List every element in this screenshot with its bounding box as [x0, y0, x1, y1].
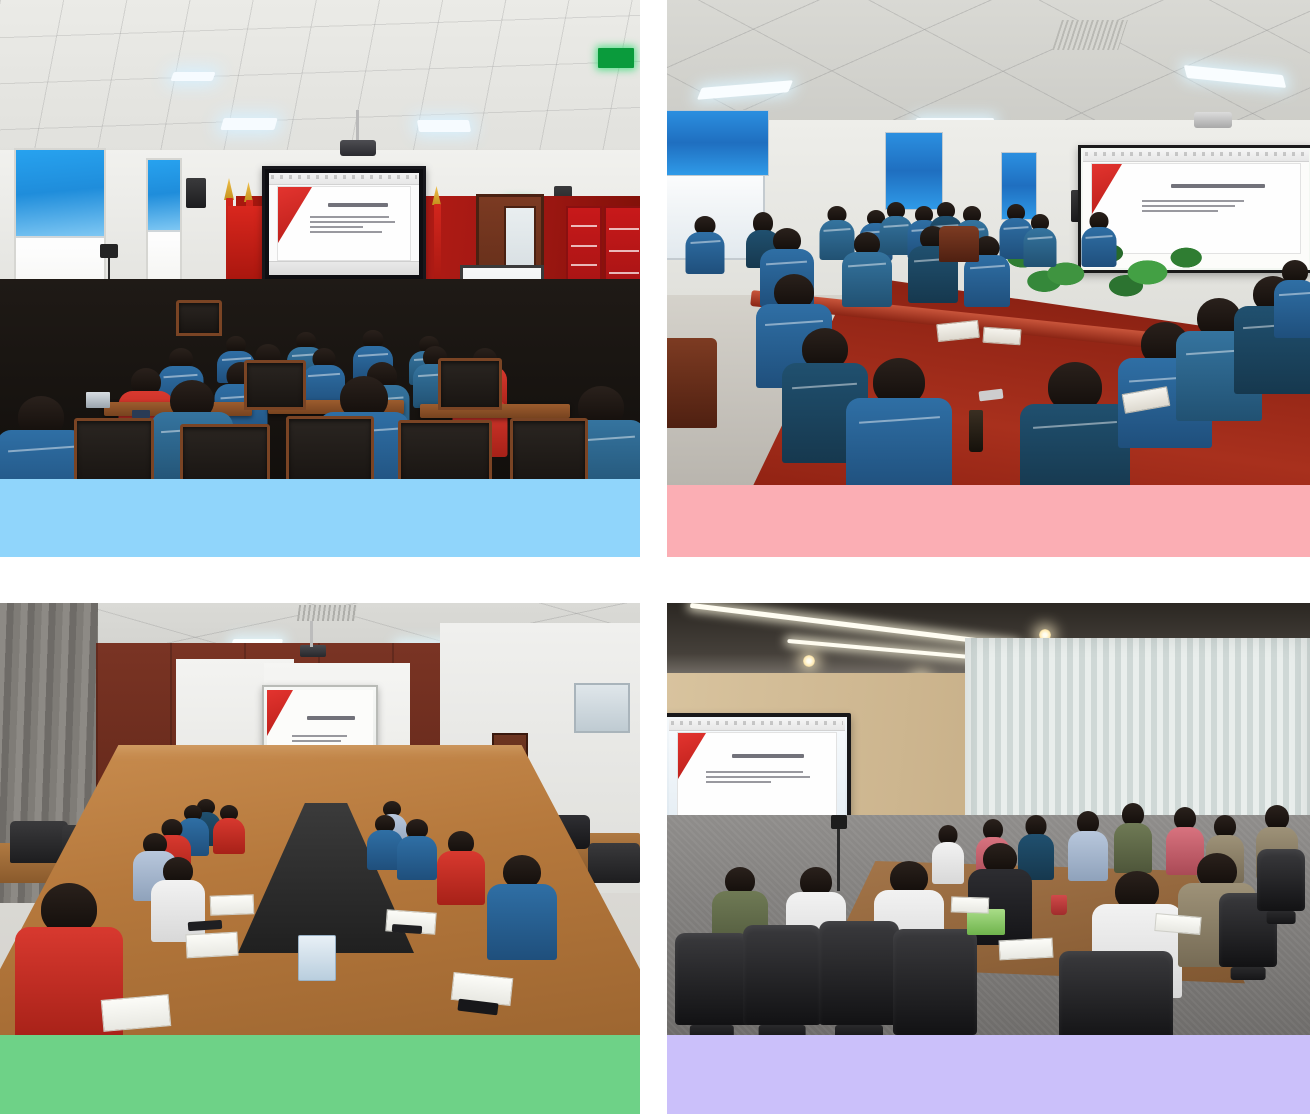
- photo-panel-top-right[interactable]: [667, 0, 1310, 557]
- ceiling-projector: [340, 140, 376, 156]
- window-blind: [667, 110, 769, 176]
- scene-modern-boardroom: [667, 603, 1310, 1035]
- slide-bullet-lines: [1142, 200, 1288, 215]
- ceiling-light: [170, 72, 215, 81]
- seat-back: [510, 418, 588, 479]
- office-chair: [10, 821, 68, 863]
- caption-bar-purple: [667, 1035, 1310, 1114]
- ceiling-air-vent: [297, 605, 357, 621]
- wall-window: [574, 683, 630, 733]
- ceiling-projector: [300, 645, 326, 657]
- window-blind: [148, 160, 180, 232]
- powerpoint-ribbon: [269, 173, 419, 185]
- drink-cup: [1051, 895, 1067, 915]
- seat-back: [286, 416, 374, 479]
- slide-canvas: [677, 732, 837, 821]
- slide-red-wedge-graphic: [267, 690, 293, 736]
- seat-back: [438, 358, 502, 410]
- photo-panel-top-left[interactable]: [0, 0, 640, 557]
- photo-panel-bottom-left[interactable]: [0, 603, 640, 1114]
- seat-back: [180, 424, 270, 479]
- attendee: [1023, 214, 1057, 266]
- video-camera: [831, 815, 847, 829]
- scene-lecture-classroom: [0, 0, 640, 479]
- attendee: [436, 831, 486, 903]
- attendee: [685, 216, 725, 272]
- projector-mount: [310, 621, 313, 647]
- slide-red-wedge-graphic: [278, 187, 312, 243]
- notepad: [210, 894, 255, 916]
- caption-bar-blue: [0, 479, 640, 557]
- slide-bullet-lines: [706, 771, 826, 786]
- notepad: [101, 994, 172, 1032]
- slide-bullet-lines: [292, 735, 366, 745]
- photo-wood-table-meeting[interactable]: [0, 603, 640, 1035]
- scene-red-table-conference-room: [667, 0, 1310, 485]
- attendee: [1067, 811, 1109, 879]
- office-chair: [1059, 951, 1173, 1035]
- party-flag: [228, 206, 264, 290]
- office-chair: [893, 929, 977, 1035]
- office-chair: [819, 921, 899, 1025]
- exit-sign: [598, 48, 634, 68]
- photo-modern-boardroom-session[interactable]: [667, 603, 1310, 1035]
- photo-classroom-training-session[interactable]: [0, 0, 640, 479]
- attendee: [1273, 260, 1310, 336]
- powerpoint-ribbon: [1083, 150, 1309, 162]
- seat-back: [398, 420, 492, 479]
- attendee: [845, 358, 953, 485]
- photo-grid: [0, 0, 1310, 1114]
- photo-panel-bottom-right[interactable]: [667, 603, 1310, 1114]
- slide-title-text: [328, 203, 387, 207]
- wooden-chair: [667, 338, 717, 428]
- office-chair: [743, 925, 821, 1025]
- attendee: [1081, 212, 1117, 266]
- ceiling-light: [417, 120, 471, 132]
- slide-title-text: [1171, 184, 1265, 188]
- projection-screen-surface: [269, 173, 419, 275]
- projection-screen: [262, 166, 426, 282]
- attendee: [1113, 803, 1153, 871]
- slide-title-text: [732, 754, 805, 758]
- scene-wood-meeting-room: [0, 603, 640, 1035]
- slide-title-text: [307, 716, 355, 720]
- ceiling-projector: [1194, 112, 1232, 128]
- window-left-far: [146, 158, 182, 290]
- ceiling-light: [220, 118, 277, 130]
- ceiling-downlight: [803, 655, 815, 667]
- water-bottle: [969, 410, 983, 452]
- office-chair: [588, 843, 640, 883]
- software-ribbon: [669, 719, 845, 731]
- attendee: [486, 855, 558, 957]
- attendee: [841, 232, 893, 306]
- notepad: [185, 932, 238, 959]
- notepad: [999, 938, 1054, 961]
- office-chair: [675, 933, 749, 1025]
- attendee: [396, 819, 438, 879]
- wall-speaker: [186, 178, 206, 208]
- window-blind: [885, 132, 943, 210]
- ceiling-air-vent: [1052, 20, 1128, 50]
- slide-bullet-lines: [310, 216, 402, 236]
- slide-canvas: [277, 186, 411, 261]
- attendee: [1019, 362, 1131, 485]
- seat-back: [176, 300, 222, 336]
- tissue-box: [298, 935, 336, 981]
- window-blind: [16, 150, 104, 238]
- caption-bar-green: [0, 1035, 640, 1114]
- laptop: [86, 392, 110, 408]
- slide-red-wedge-graphic: [1092, 164, 1122, 214]
- caption-bar-pink: [667, 485, 1310, 557]
- wooden-chair: [939, 226, 979, 262]
- office-chair: [1257, 849, 1305, 911]
- windows-taskbar: [269, 261, 419, 275]
- mobile-phone: [132, 410, 150, 418]
- slide-red-wedge-graphic: [678, 733, 706, 779]
- notebook: [982, 327, 1021, 346]
- attendee: [212, 805, 246, 853]
- seat-back: [74, 418, 154, 479]
- seat-back: [244, 360, 306, 410]
- notepad: [951, 896, 990, 913]
- photo-conference-room-briefing[interactable]: [667, 0, 1310, 485]
